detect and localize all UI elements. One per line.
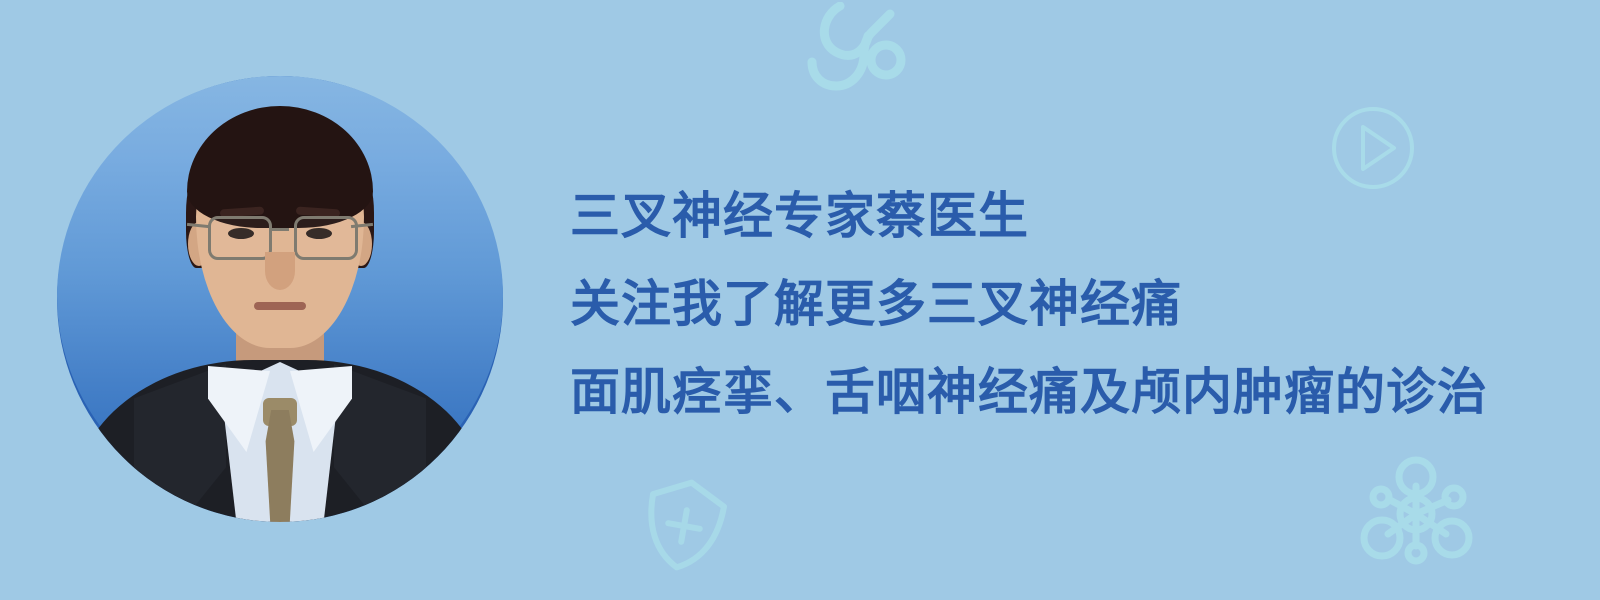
headline-line-2: 关注我了解更多三叉神经痛 (570, 260, 1570, 348)
shield-plus-icon (634, 472, 734, 580)
headline-line-1: 三叉神经专家蔡医生 (570, 172, 1570, 260)
stethoscope-icon (806, 2, 926, 112)
headline-line-3: 面肌痉挛、舌咽神经痛及颅内肿瘤的诊治 (570, 348, 1570, 436)
doctor-promo-banner: 三叉神经专家蔡医生 关注我了解更多三叉神经痛 面肌痉挛、舌咽神经痛及颅内肿瘤的诊… (0, 0, 1600, 600)
molecule-icon (1354, 452, 1478, 572)
doctor-photo (57, 76, 503, 522)
headline-block: 三叉神经专家蔡医生 关注我了解更多三叉神经痛 面肌痉挛、舌咽神经痛及颅内肿瘤的诊… (570, 172, 1570, 436)
